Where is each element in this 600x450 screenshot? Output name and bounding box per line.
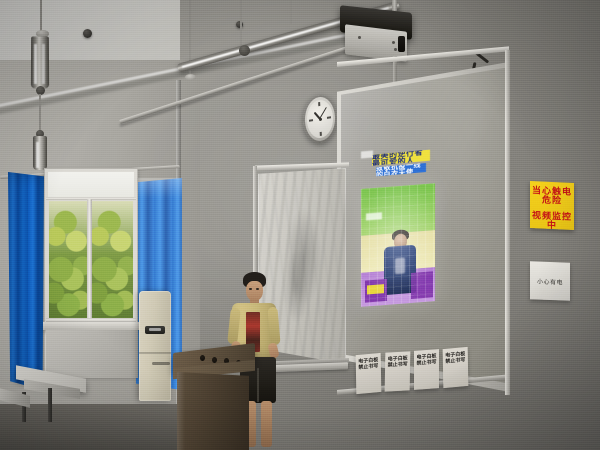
lamp-tube-highlight (42, 44, 45, 84)
ac-vent-grille (143, 296, 167, 318)
yellow-warning-sign: 当心触电危险 视频监控中 (530, 181, 574, 230)
clock-tick (327, 116, 331, 118)
projector-lens-housing (398, 36, 405, 52)
under-window-wall (46, 330, 138, 378)
ac-seam (139, 352, 171, 354)
wooden-podium[interactable] (177, 372, 249, 450)
ac-brand-logo (149, 328, 161, 331)
window-mullion-vertical (87, 199, 92, 321)
projector-screw (392, 41, 395, 44)
board-notice-4-line2: 禁止书写 (443, 358, 468, 366)
projection-channel-logo (361, 150, 373, 158)
lamp-rod-lower (39, 94, 41, 132)
window-sill (43, 322, 139, 330)
board-notice-3-line2: 禁止书写 (414, 360, 439, 367)
podium-speaker-hole (200, 355, 205, 361)
classroom-photo: 最美的逆行者 最可爱的人 致敬抗疫一线的白衣天使 电子白板 禁止书写 电子白板 … (0, 0, 600, 450)
podium-speaker-hole (212, 357, 217, 363)
projection-light-bloom (361, 183, 435, 307)
white-notice-text: 小心有电 (537, 276, 563, 286)
whiteboard-right-rail (505, 50, 510, 395)
projected-video (361, 183, 435, 307)
shorts-center-seam (257, 368, 259, 402)
clock-center-pin (318, 117, 321, 120)
projection-banner: 最美的逆行者 最可爱的人 致敬抗疫一线的白衣天使 (372, 149, 434, 180)
podium-edge-highlight (177, 372, 185, 450)
board-notice-4: 电子白板 禁止书写 (443, 347, 469, 388)
projection-banner-line2: 致敬抗疫一线的白衣天使 (376, 163, 426, 176)
lamp-rod (240, 0, 242, 52)
yellow-sign-line2: 视频监控中 (532, 211, 572, 231)
student-eye-right (256, 288, 259, 290)
lamp-rod (40, 0, 42, 33)
lamp-tube-highlight (36, 142, 39, 168)
student-eye-left (249, 288, 252, 290)
blue-curtain-left[interactable] (8, 172, 44, 390)
clock-face (306, 98, 334, 140)
board-notice-2-line2: 禁止书写 (385, 362, 410, 369)
fixture-hanger-knob (239, 45, 250, 56)
white-notice-sign: 小心有电 (530, 261, 570, 300)
clock-tick (309, 119, 313, 121)
yellow-sign-line1: 当心触电危险 (532, 186, 572, 206)
lamp-rod-cap (185, 74, 196, 80)
window-pane-right (92, 201, 133, 319)
window-pane-left (49, 201, 88, 319)
curtain-header-highlight (136, 178, 182, 198)
student-leg-right (261, 401, 272, 447)
projector-screw (358, 36, 361, 39)
board-notice-1: 电子白板 禁止书写 (356, 353, 382, 394)
lamp-tube-highlight (34, 44, 37, 84)
window-transom-pane (48, 172, 134, 198)
lamp-rod (290, 0, 292, 24)
board-notice-1-line2: 禁止书写 (356, 364, 381, 372)
ac-handle (152, 362, 170, 365)
desk-leg (48, 388, 52, 422)
clock-tick (318, 102, 320, 106)
projector-screw (394, 48, 397, 51)
board-notice-3: 电子白板 禁止书写 (414, 349, 439, 390)
student-face (246, 281, 263, 301)
board-notice-2: 电子白板 禁止书写 (385, 351, 411, 391)
ceiling-mount-hook (83, 29, 92, 38)
clock-tick (320, 132, 322, 136)
